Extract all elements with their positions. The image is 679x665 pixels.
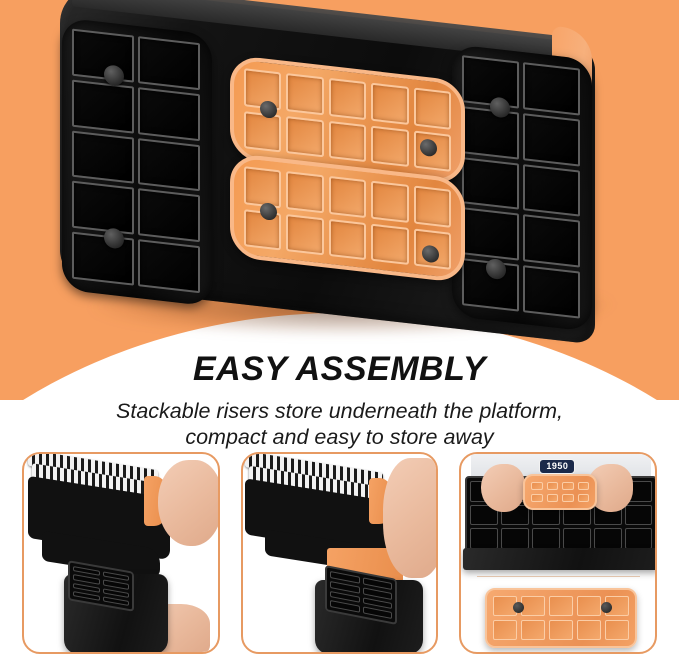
feature-panels: 1950	[0, 452, 679, 654]
orange-riser-top	[523, 474, 597, 510]
platform-edge	[463, 548, 657, 570]
hand	[481, 464, 525, 512]
riser-grid-left	[72, 29, 200, 294]
panel-insert-orange-riser: 1950	[459, 452, 657, 654]
panel-separate-riser	[241, 452, 439, 654]
badge-1950: 1950	[539, 459, 575, 474]
black-riser-right	[452, 44, 592, 332]
page-subtitle: Stackable risers store underneath the pl…	[0, 398, 679, 450]
orange-riser-grid	[244, 166, 451, 270]
subtitle-line-2: compact and easy to store away	[0, 424, 679, 450]
orange-riser-bottom	[485, 588, 637, 648]
hand	[158, 460, 220, 546]
page-title: EASY ASSEMBLY	[0, 346, 679, 386]
product-image	[52, 8, 632, 358]
riser-grid-right	[462, 55, 580, 318]
panel-lift-platform	[22, 452, 220, 654]
hero-section	[0, 0, 679, 400]
hand	[383, 458, 439, 578]
panel-divider	[477, 576, 640, 577]
headline-block: EASY ASSEMBLY Stackable risers store und…	[0, 346, 679, 446]
orange-riser-grid	[244, 68, 451, 172]
black-riser-left	[62, 17, 212, 306]
subtitle-line-1: Stackable risers store underneath the pl…	[0, 398, 679, 424]
